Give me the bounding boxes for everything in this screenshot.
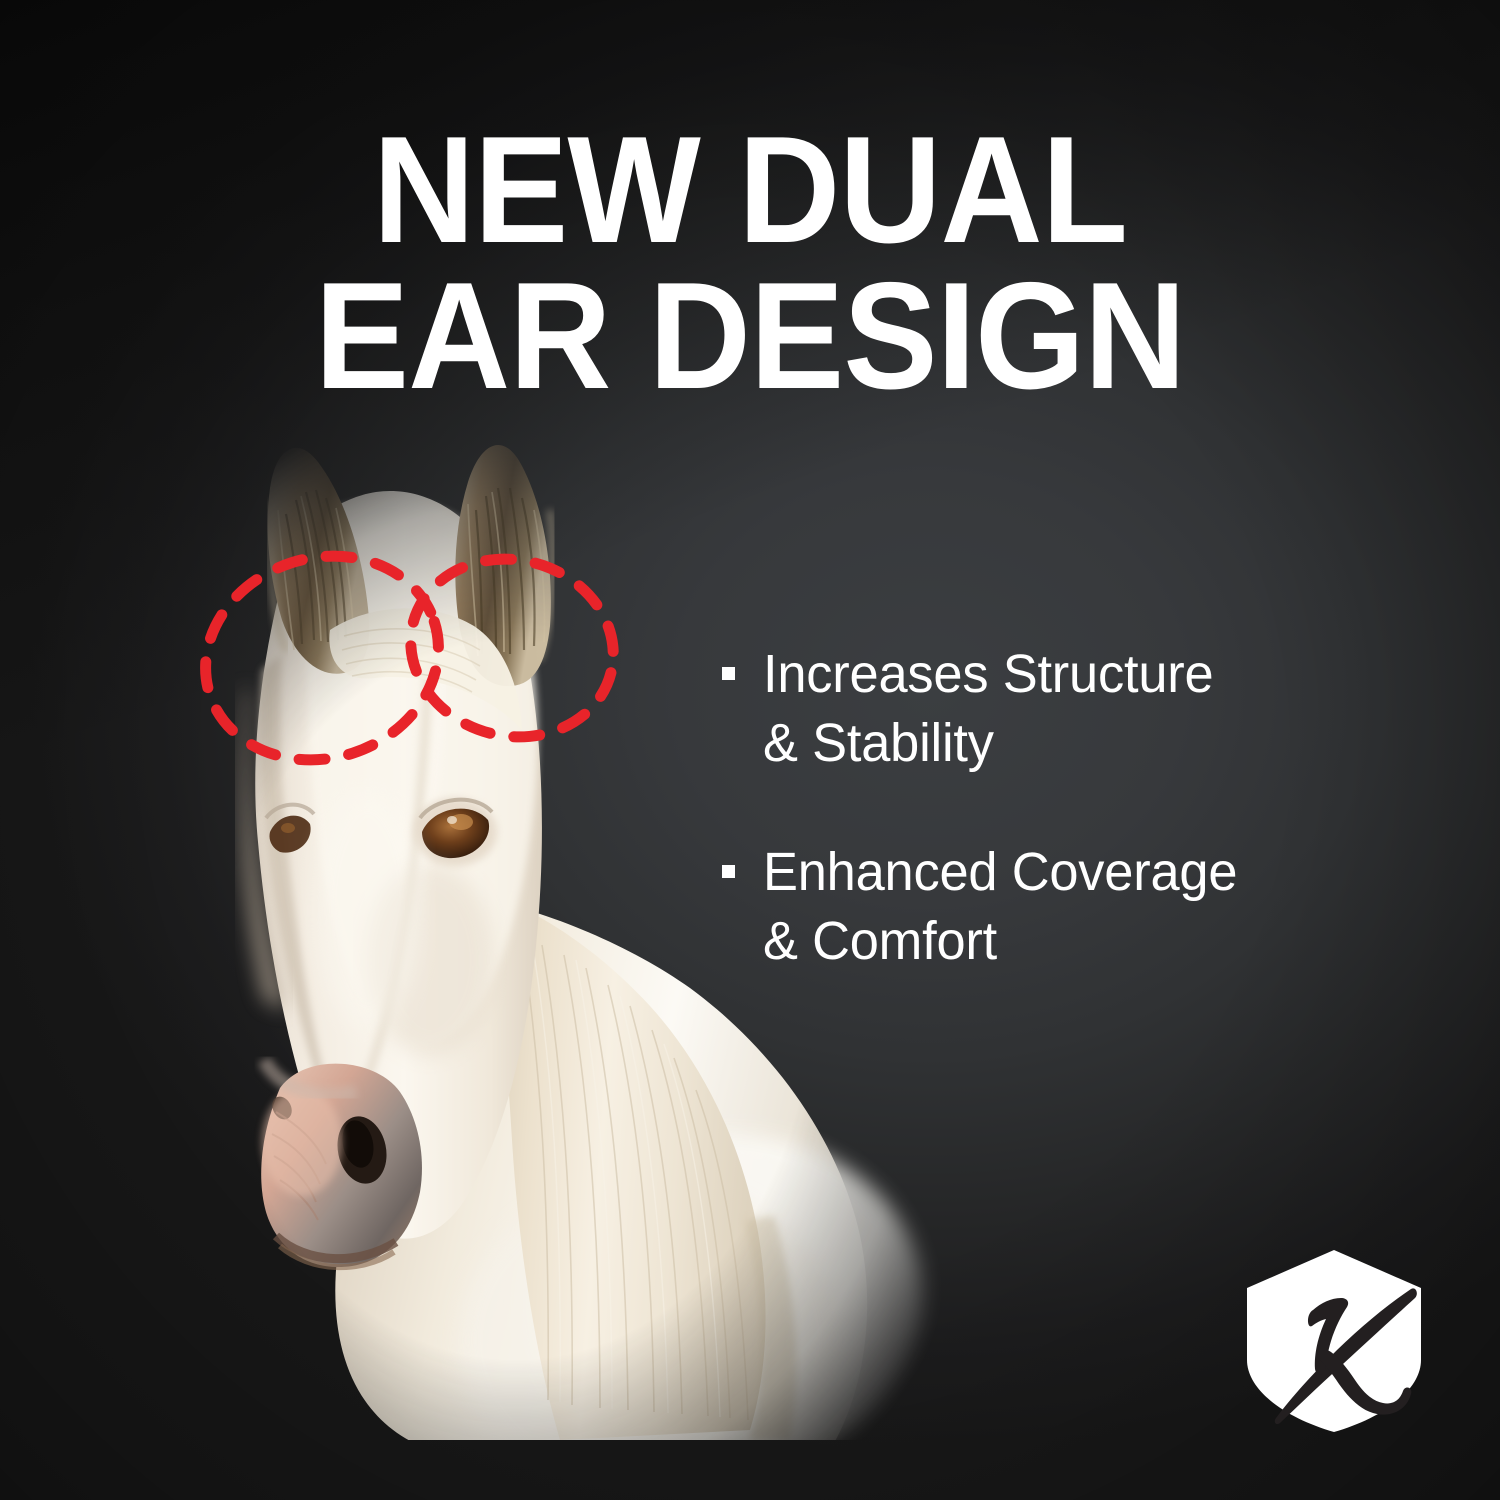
horse-eye-right: [413, 798, 497, 866]
bullet-line-1: Increases Structure: [763, 644, 1213, 704]
bullet-line-1: Enhanced Coverage: [763, 842, 1237, 902]
bullet-text: Increases Structure & Stability: [763, 640, 1213, 778]
promo-banner: NEW DUAL EAR DESIGN: [0, 0, 1500, 1500]
list-item: Enhanced Coverage & Comfort: [722, 838, 1412, 976]
feature-bullet-list: Increases Structure & Stability Enhanced…: [722, 640, 1412, 1036]
shield-logo-icon: [1243, 1248, 1425, 1434]
list-item: Increases Structure & Stability: [722, 640, 1412, 778]
bullet-line-2: & Stability: [763, 713, 994, 773]
bullet-square-icon: [722, 865, 735, 878]
bullet-text: Enhanced Coverage & Comfort: [763, 838, 1237, 976]
headline-line-1: NEW DUAL: [53, 118, 1448, 264]
headline-line-2: EAR DESIGN: [53, 264, 1448, 410]
brand-logo: [1243, 1248, 1425, 1434]
bullet-line-2: & Comfort: [763, 911, 997, 971]
bullet-square-icon: [722, 667, 735, 680]
headline: NEW DUAL EAR DESIGN: [53, 118, 1448, 410]
